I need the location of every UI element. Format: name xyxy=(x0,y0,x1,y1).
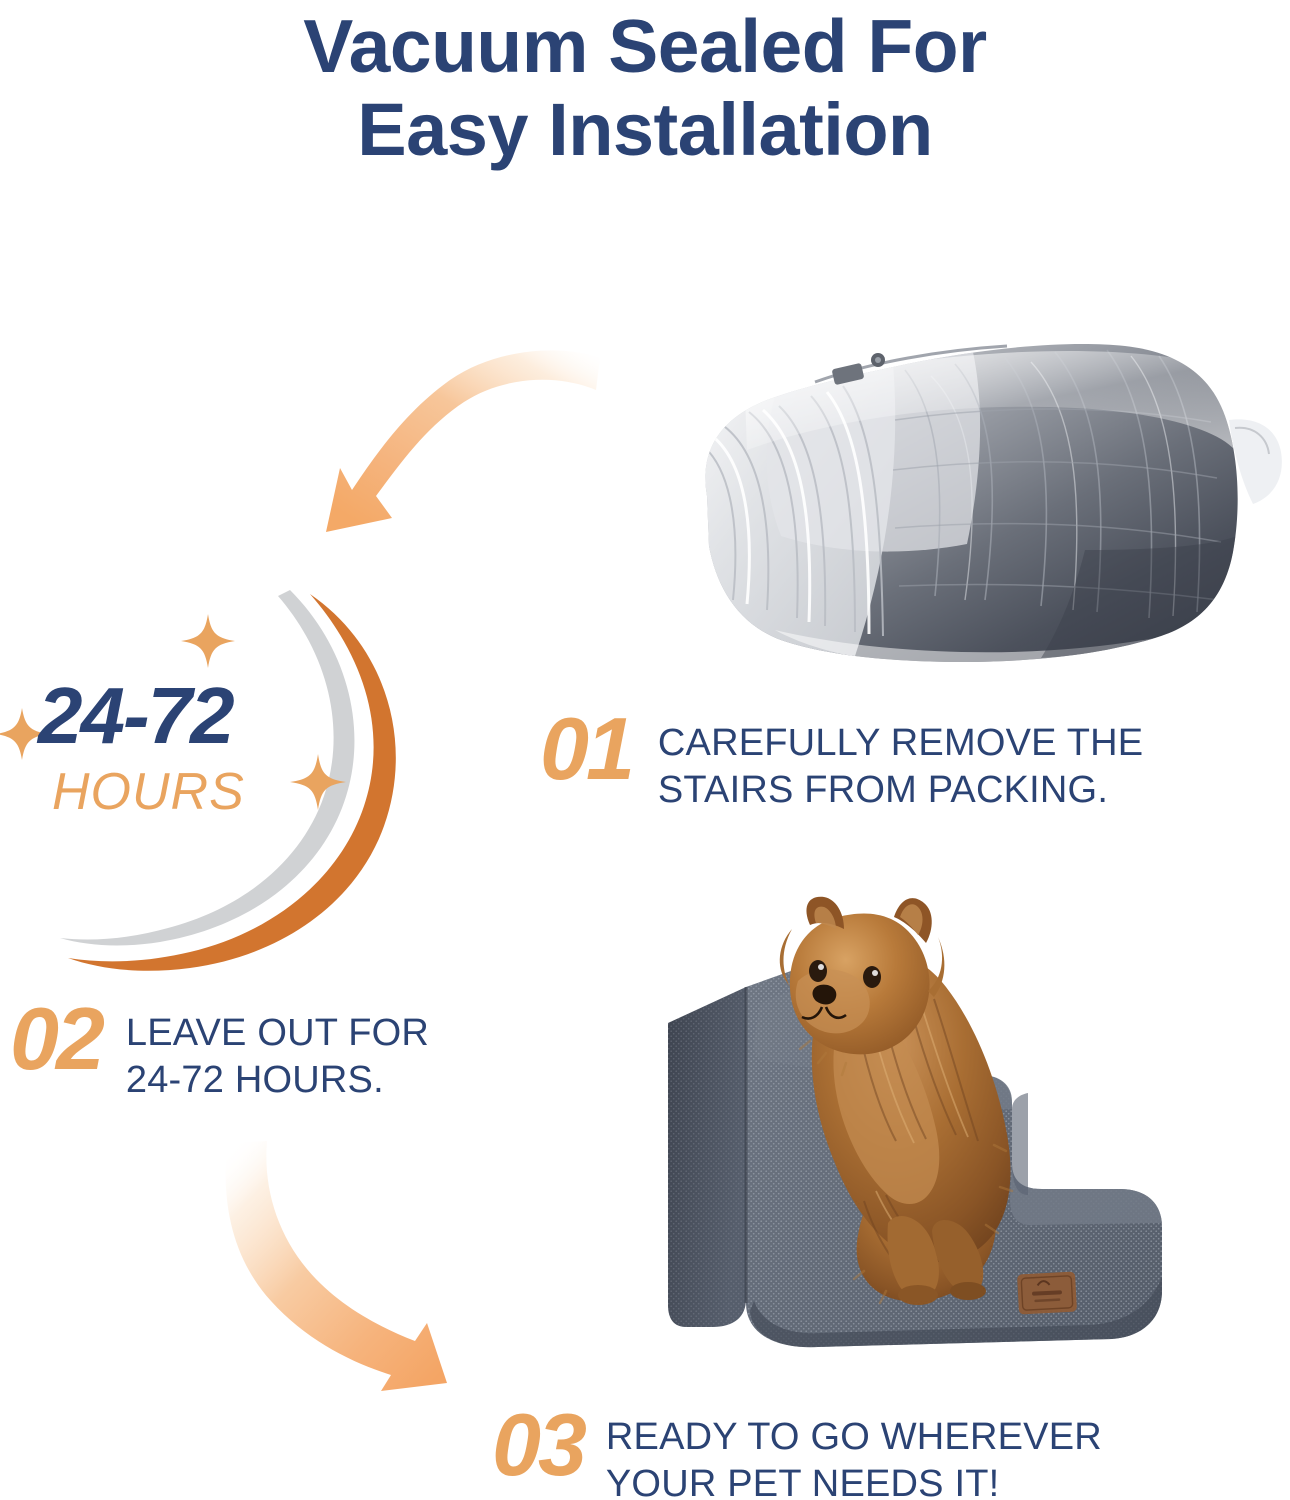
curved-arrow-down-left-icon xyxy=(300,318,610,568)
step-item-01: 01 CAREFULLY REMOVE THE STAIRS FROM PACK… xyxy=(540,706,1143,814)
step-item-03: 03 READY TO GO WHEREVER YOUR PET NEEDS I… xyxy=(492,1402,1102,1500)
dog-on-pet-stairs-illustration xyxy=(650,895,1275,1385)
badge-number: 24-72 xyxy=(38,676,233,756)
step-item-02: 02 LEAVE OUT FOR 24-72 HOURS. xyxy=(10,996,429,1104)
step-number: 02 xyxy=(10,996,102,1082)
package-photo xyxy=(655,300,1290,700)
title-line-1: Vacuum Sealed For xyxy=(0,4,1290,88)
step-number: 03 xyxy=(492,1402,584,1488)
step-label: CAREFULLY REMOVE THE STAIRS FROM PACKING… xyxy=(658,720,1143,814)
vacuum-sealed-package-illustration xyxy=(655,300,1290,700)
step-label: READY TO GO WHEREVER YOUR PET NEEDS IT! xyxy=(606,1414,1102,1500)
page-title: Vacuum Sealed For Easy Installation xyxy=(0,4,1290,172)
infographic-page: Vacuum Sealed For Easy Installation xyxy=(0,0,1290,1500)
step-number: 01 xyxy=(540,706,632,792)
badge-unit: HOURS xyxy=(52,766,245,818)
dog-eye-right xyxy=(863,966,881,988)
title-line-2: Easy Installation xyxy=(0,88,1290,172)
time-badge: 24-72 HOURS xyxy=(0,590,444,980)
four-point-star-icon xyxy=(181,614,235,668)
curved-arrow-down-right-icon xyxy=(185,1135,525,1415)
dog-eye-left xyxy=(809,960,827,982)
stairs-photo xyxy=(650,895,1275,1385)
step-label: LEAVE OUT FOR 24-72 HOURS. xyxy=(126,1010,429,1104)
brand-label-patch xyxy=(1017,1272,1077,1315)
